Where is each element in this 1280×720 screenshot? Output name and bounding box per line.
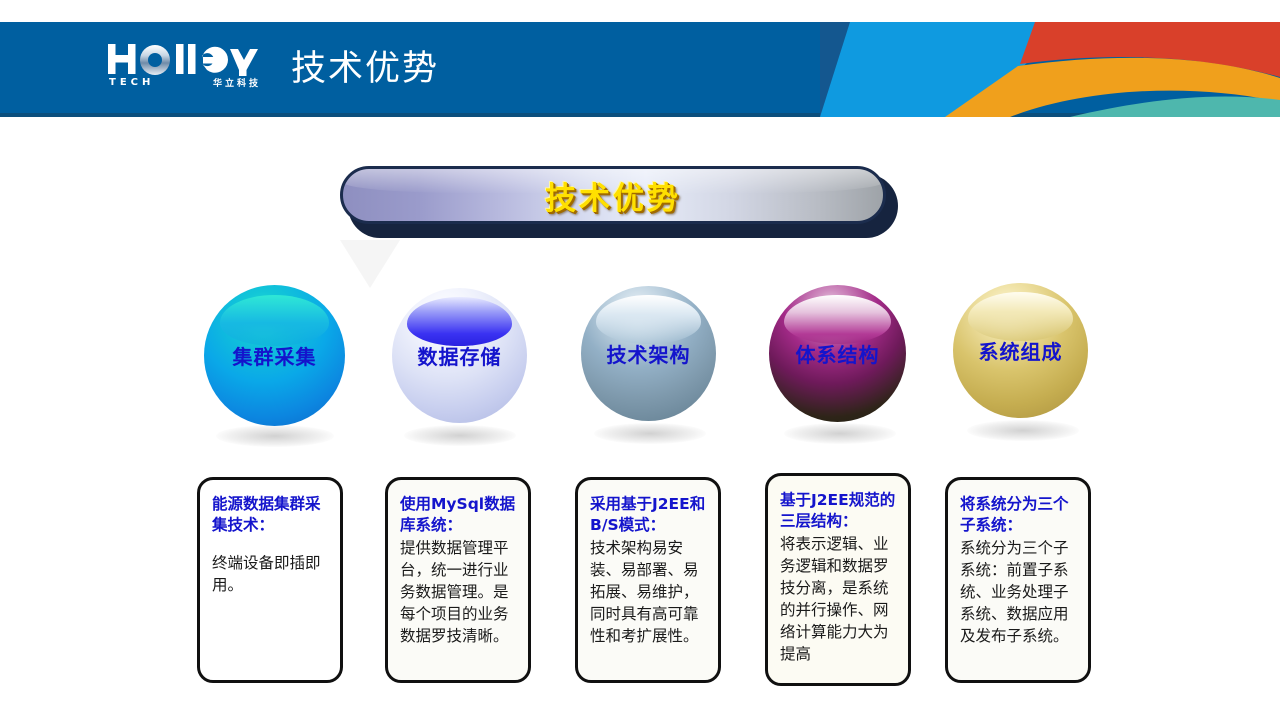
sphere-label: 集群采集	[204, 285, 345, 426]
card-three-layer-structure[interactable]: 基于J2EE规范的三层结构： 将表示逻辑、业务逻辑和数据罗技分离，是系统的并行操…	[765, 473, 911, 686]
card-tech-architecture[interactable]: 采用基于J2EE和B/S模式： 技术架构易安装、易部署、易拓展、易维护，同时具有…	[575, 477, 721, 683]
card-heading: 能源数据集群采集技术：	[212, 494, 330, 536]
sphere-system-composition[interactable]: 系统组成	[953, 283, 1088, 418]
page-title: 技术优势	[291, 47, 439, 91]
sphere-shadow	[404, 425, 516, 446]
sphere-label: 系统组成	[953, 283, 1088, 418]
sphere-shadow	[216, 425, 334, 447]
card-data-storage[interactable]: 使用MySql数据库系统： 提供数据管理平台，统一进行业务数据管理。是每个项目的…	[385, 477, 531, 683]
sphere-shadow	[594, 423, 706, 444]
sphere-label: 体系结构	[769, 285, 906, 422]
logo-sub-cjk: 华立科技	[213, 76, 261, 89]
banner-reflection	[340, 240, 400, 288]
card-heading: 使用MySql数据库系统：	[400, 494, 518, 536]
card-cluster-collection[interactable]: 能源数据集群采集技术： 终端设备即插即用。	[197, 477, 343, 683]
sphere-label: 技术架构	[581, 286, 716, 421]
banner-title: 技术优势	[340, 166, 886, 224]
sphere-tech-architecture[interactable]: 技术架构	[581, 286, 716, 421]
card-body: 系统分为三个子系统：前置子系统、业务处理子系统、数据应用及发布子系统。	[960, 537, 1078, 647]
card-heading: 基于J2EE规范的三层结构：	[780, 490, 898, 532]
card-heading: 将系统分为三个子系统：	[960, 494, 1078, 536]
company-logo: TECH 华立科技	[108, 42, 260, 92]
logo-wordmark-icon	[108, 42, 260, 76]
card-body: 将表示逻辑、业务逻辑和数据罗技分离，是系统的并行操作、网络计算能力大为提高	[780, 533, 898, 665]
section-banner: 技术优势	[340, 166, 898, 238]
slide-canvas: TECH 华立科技 技术优势 技术优势 集群采集 数据存储 技术架构 体系	[0, 0, 1280, 720]
sphere-data-storage[interactable]: 数据存储	[392, 288, 527, 423]
logo-subtitle: TECH 华立科技	[109, 76, 261, 89]
sphere-system-structure[interactable]: 体系结构	[769, 285, 906, 422]
card-body: 提供数据管理平台，统一进行业务数据管理。是每个项目的业务数据罗技清晰。	[400, 537, 518, 647]
sphere-shadow	[784, 423, 896, 444]
header-swoosh-decoration	[820, 22, 1280, 117]
logo-sub-latin: TECH	[109, 77, 154, 88]
card-body: 终端设备即插即用。	[212, 552, 330, 596]
sphere-shadow	[967, 420, 1079, 441]
card-subsystems[interactable]: 将系统分为三个子系统： 系统分为三个子系统：前置子系统、业务处理子系统、数据应用…	[945, 477, 1091, 683]
card-heading: 采用基于J2EE和B/S模式：	[590, 494, 708, 536]
sphere-cluster-collection[interactable]: 集群采集	[204, 285, 345, 426]
card-body: 技术架构易安装、易部署、易拓展、易维护，同时具有高可靠性和考扩展性。	[590, 537, 708, 647]
sphere-label: 数据存储	[392, 288, 527, 423]
